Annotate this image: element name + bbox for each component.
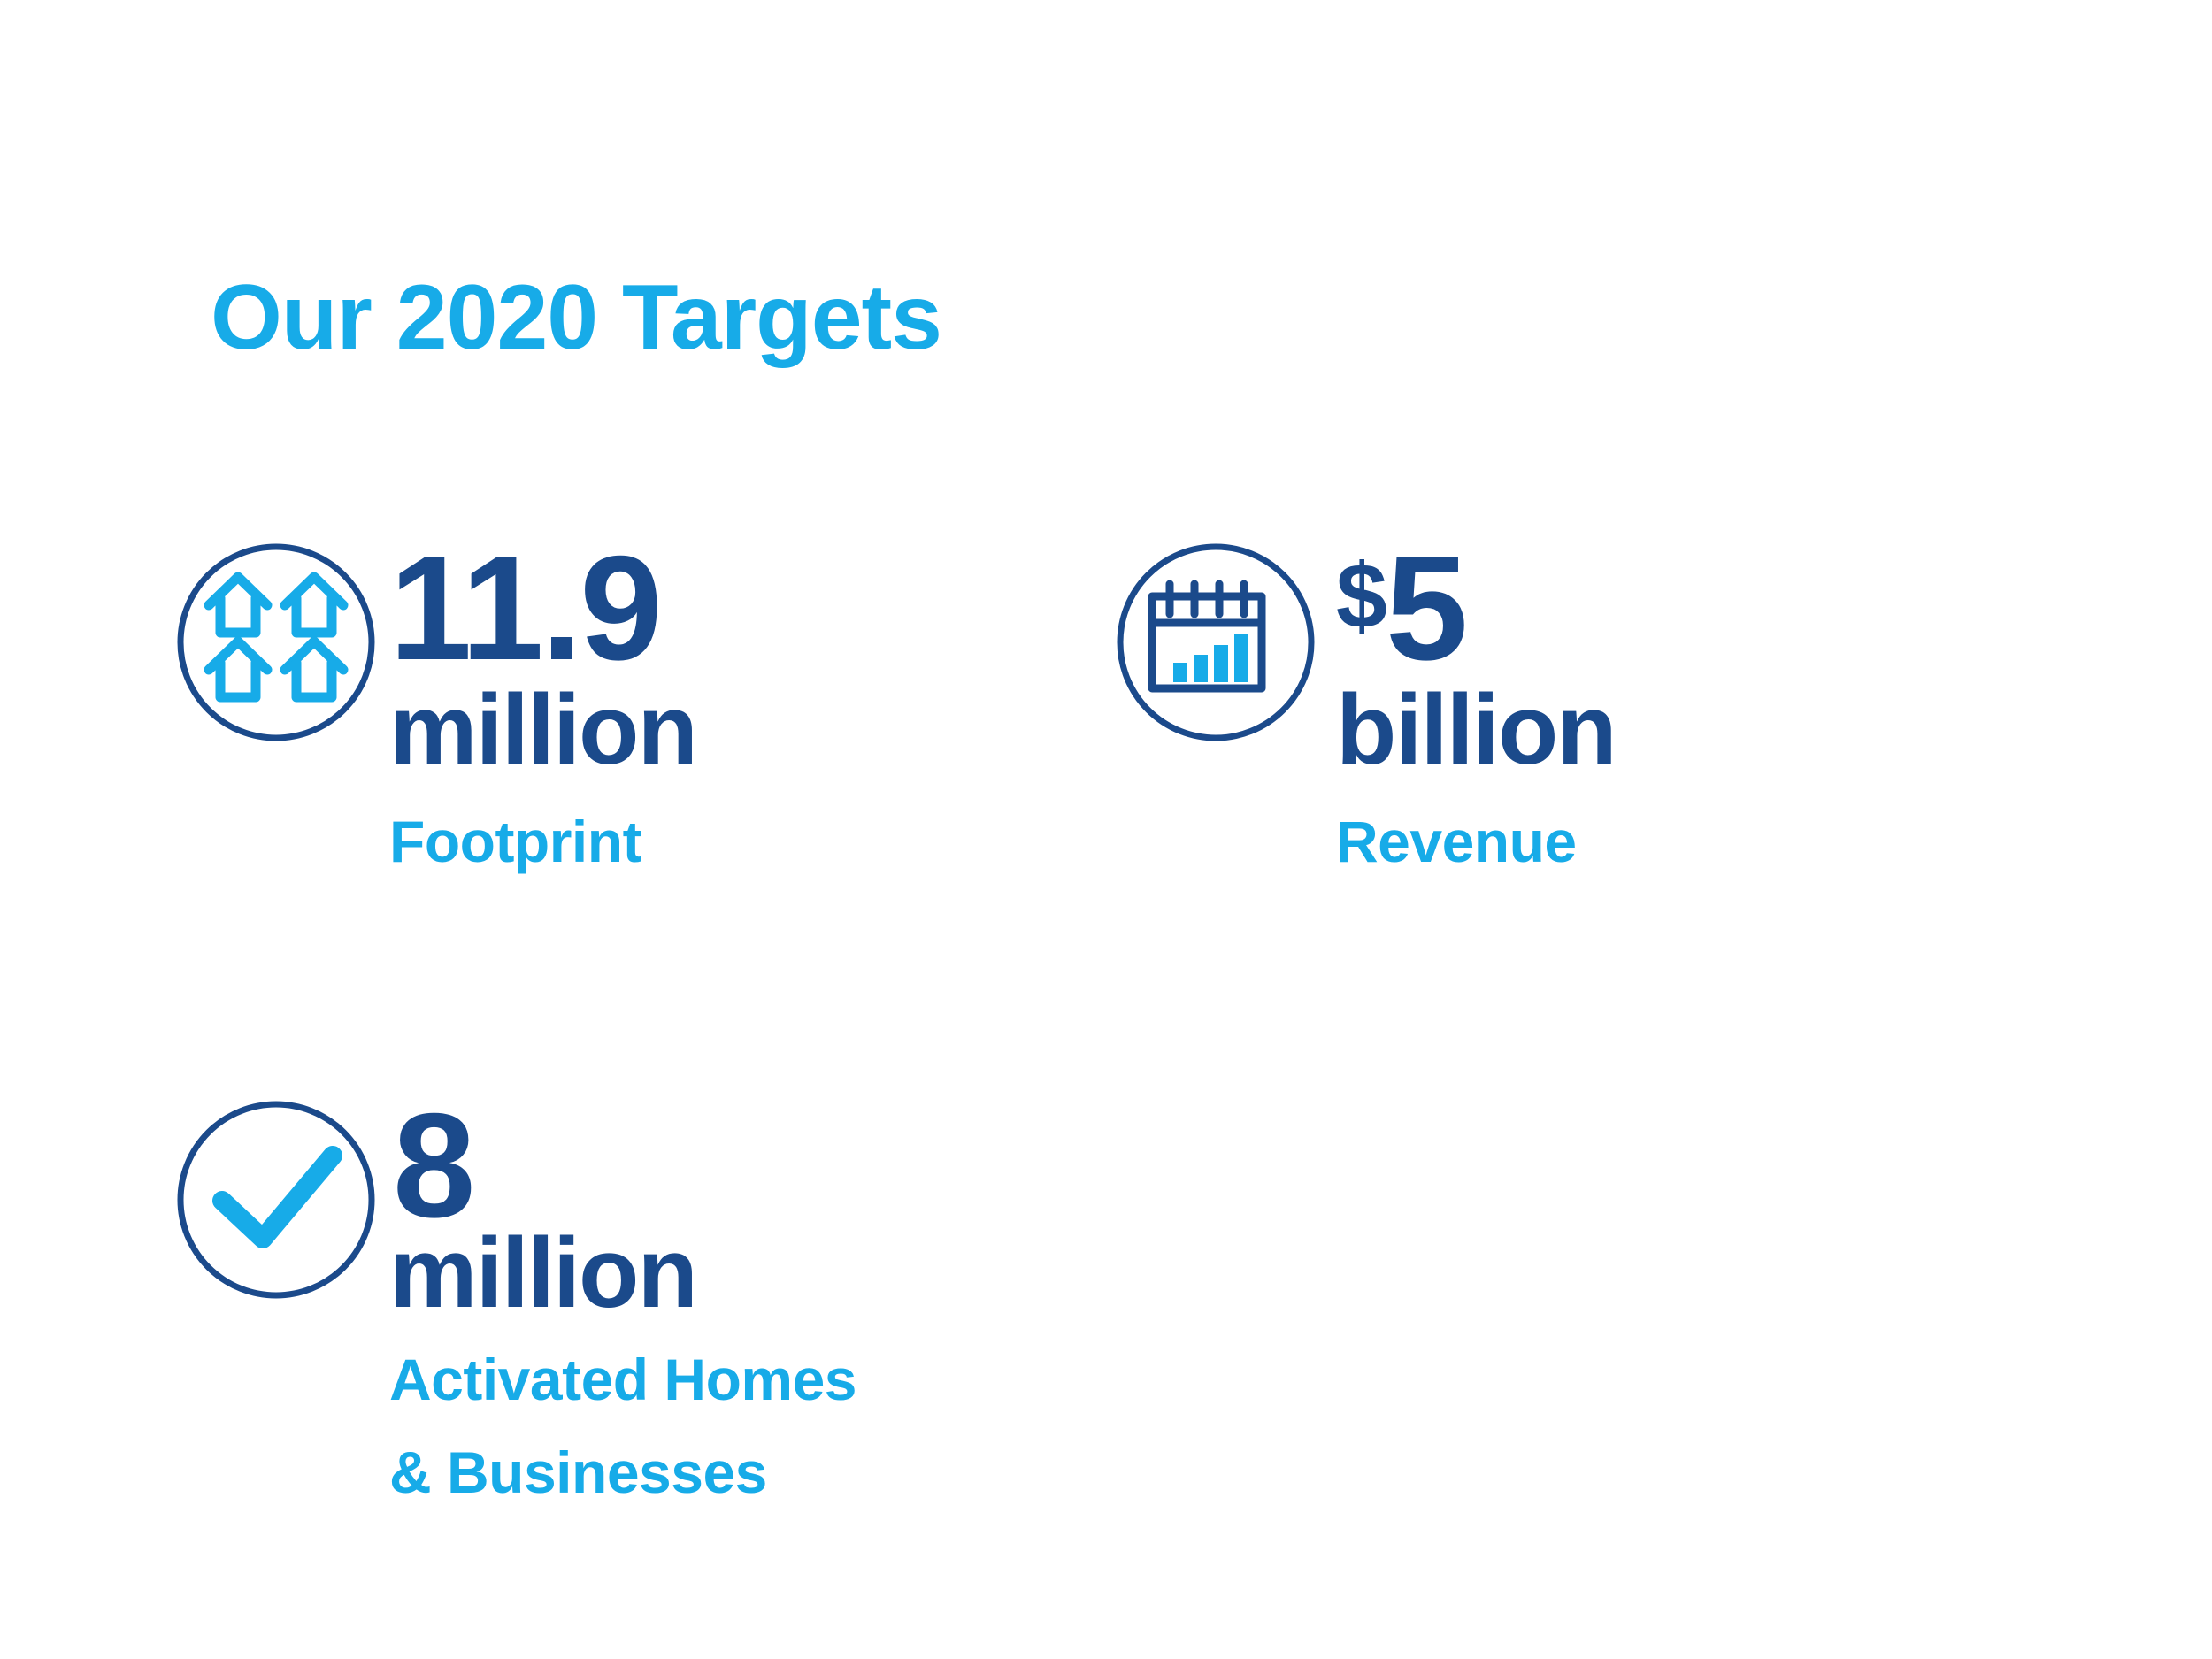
calendar-bar-chart-icon	[1113, 540, 1318, 745]
page-title: Our 2020 Targets	[211, 267, 941, 368]
stat-text-footprint: 11.9 million Footprint	[389, 540, 696, 875]
four-houses-icon	[173, 540, 379, 745]
stat-label-activated-line1: Activated Homes	[389, 1347, 856, 1413]
stat-value-footprint: 11.9	[389, 543, 696, 674]
stat-unit-activated: million	[389, 1226, 856, 1320]
stat-value-activated: 8	[393, 1101, 856, 1232]
stat-text-revenue: $5 billion Revenue	[1336, 540, 1616, 875]
stat-label-footprint: Footprint	[389, 809, 696, 875]
stat-card-footprint: 11.9 million Footprint	[173, 540, 696, 875]
stat-unit-revenue: billion	[1336, 683, 1616, 777]
stat-label-activated-line2: & Businesses	[389, 1440, 856, 1506]
checkmark-icon	[173, 1097, 379, 1302]
stat-label-revenue: Revenue	[1336, 809, 1616, 875]
stat-card-revenue: $5 billion Revenue	[1113, 540, 1616, 875]
stat-text-activated: 8 million Activated Homes & Businesses	[389, 1097, 856, 1507]
currency-symbol: $	[1336, 546, 1386, 649]
stat-value-revenue-number: 5	[1386, 525, 1465, 691]
stat-card-activated: 8 million Activated Homes & Businesses	[173, 1097, 856, 1507]
stat-value-revenue: $5	[1336, 543, 1616, 674]
stat-unit-footprint: million	[389, 683, 696, 777]
